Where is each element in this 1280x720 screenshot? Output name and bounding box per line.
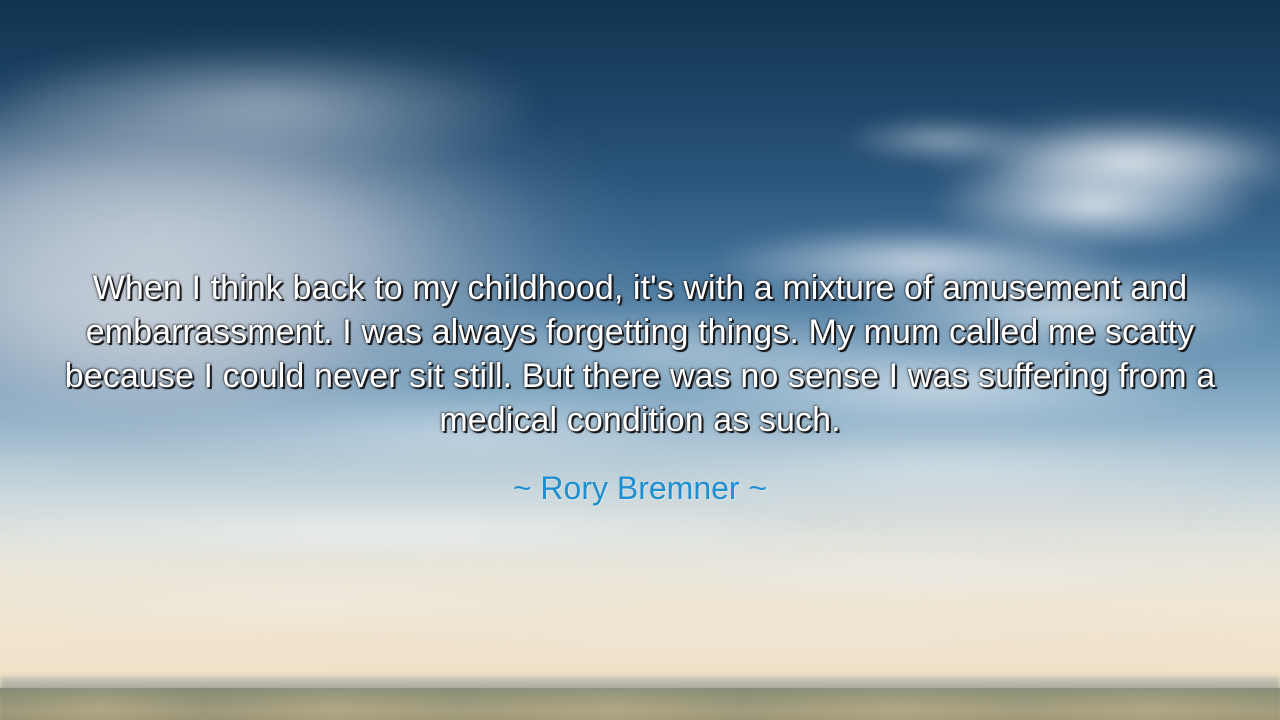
ground-texture-overlay xyxy=(0,688,1280,720)
quote-text: When I think back to my childhood, it's … xyxy=(58,266,1223,442)
quote-image-canvas: When I think back to my childhood, it's … xyxy=(0,0,1280,720)
quote-attribution: ~ Rory Bremner ~ xyxy=(0,468,1280,508)
horizon-haze xyxy=(0,420,1280,720)
quote-block: When I think back to my childhood, it's … xyxy=(0,266,1280,442)
